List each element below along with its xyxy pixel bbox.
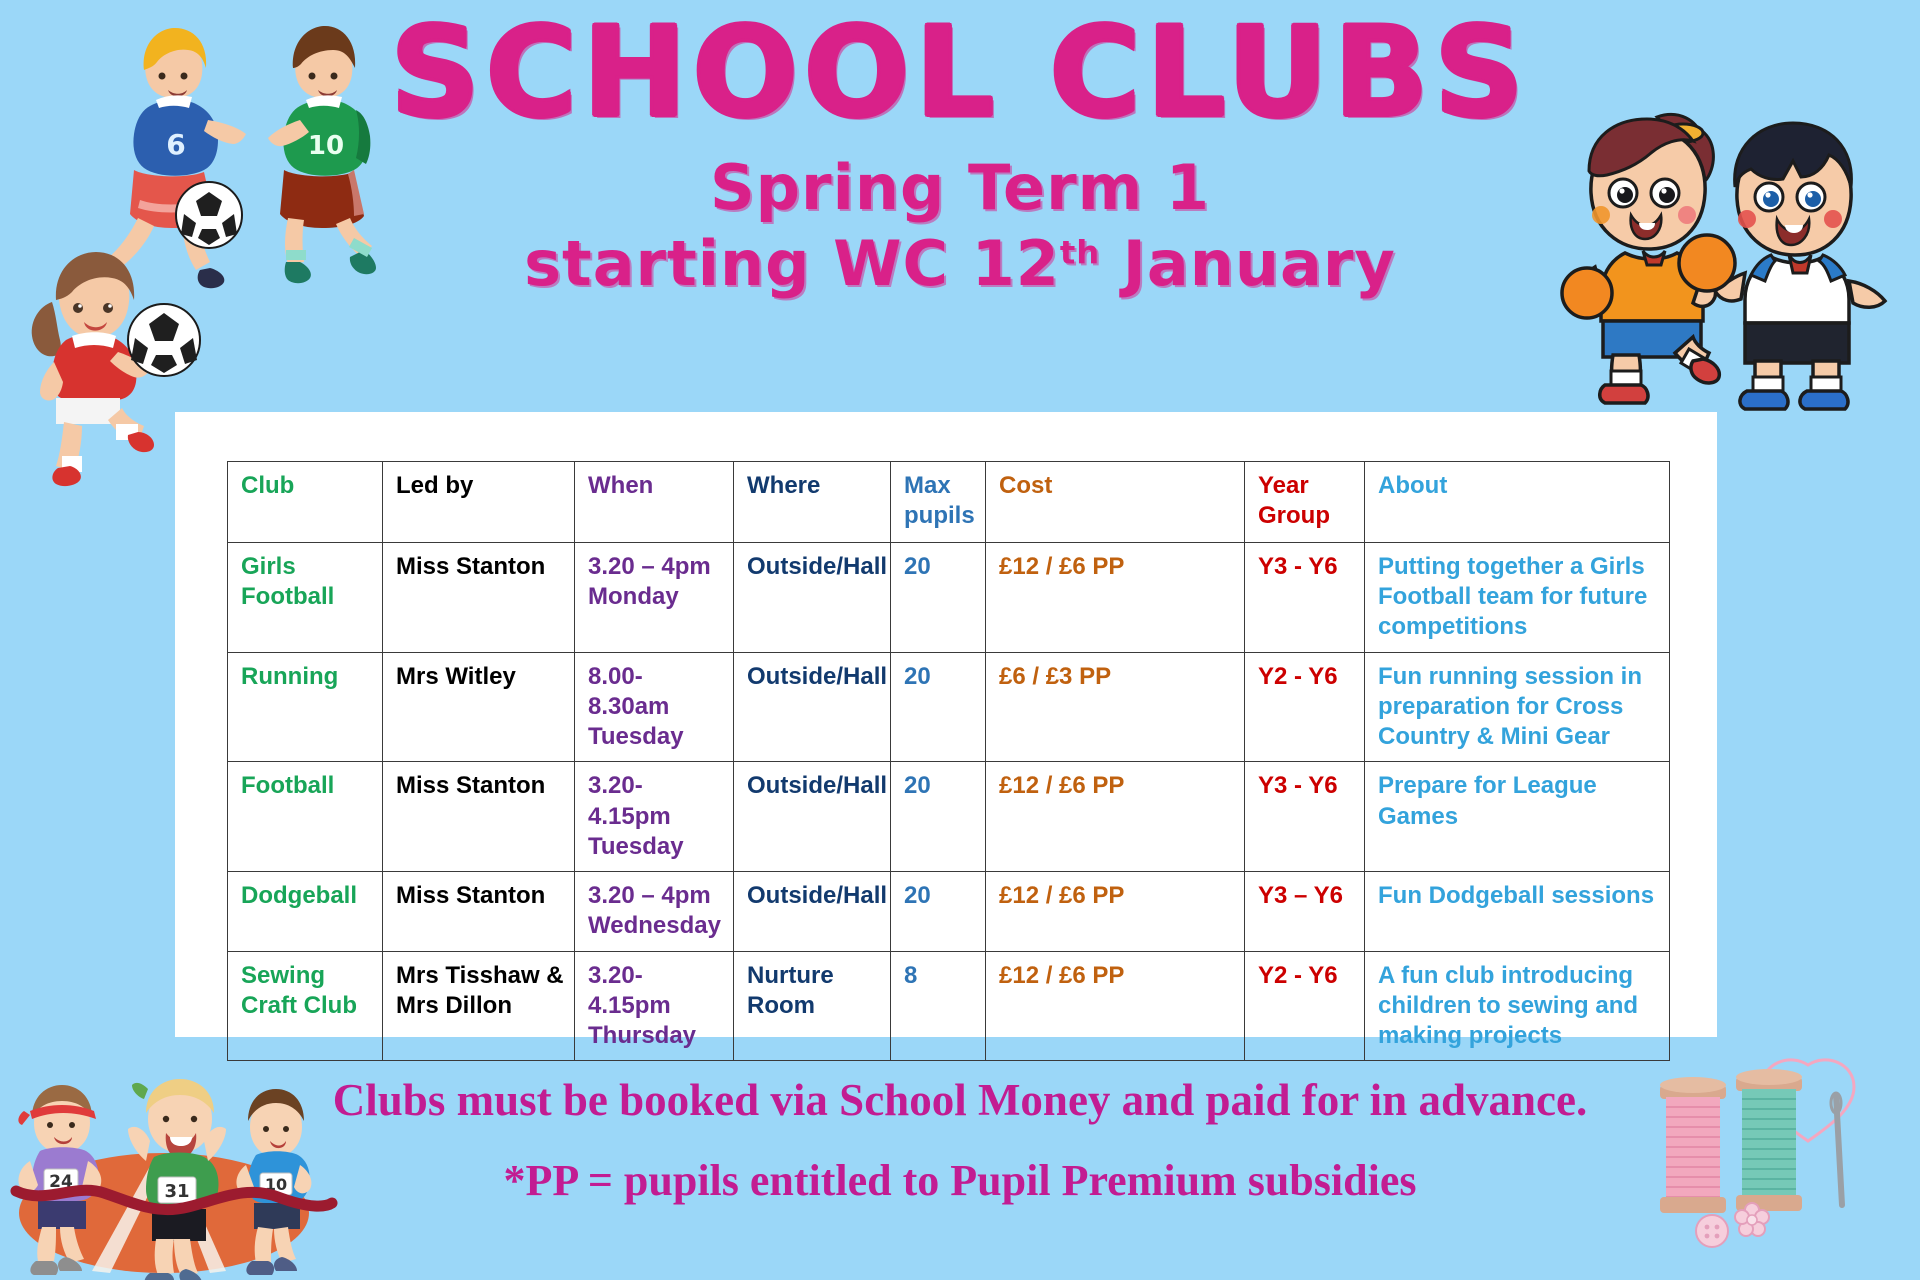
cell-year-group: Y3 – Y6 [1245, 872, 1365, 951]
cell-club: Football [228, 762, 383, 872]
dodgeball-orange-right [1679, 235, 1735, 291]
cell-when: 3.20-4.15pm Tuesday [575, 762, 734, 872]
cell-about: A fun club introducing children to sewin… [1365, 951, 1670, 1061]
column-header-max-pupils: Max pupils [891, 462, 986, 543]
cell-cost: £6 / £3 PP [986, 652, 1245, 762]
cell-where: Outside/Hall [734, 652, 891, 762]
dodgeball-orange-left [1562, 268, 1612, 318]
cell-club: Dodgeball [228, 872, 383, 951]
cell-cost: £12 / £6 PP [986, 543, 1245, 653]
column-header-led-by: Led by [383, 462, 575, 543]
cell-where: Outside/Hall [734, 872, 891, 951]
cell-when: 3.20 – 4pm Monday [575, 543, 734, 653]
cell-max-pupils: 20 [891, 762, 986, 872]
cell-year-group: Y3 - Y6 [1245, 543, 1365, 653]
table-row: Football Miss Stanton 3.20-4.15pm Tuesda… [228, 762, 1670, 872]
cell-max-pupils: 20 [891, 543, 986, 653]
cell-led-by: Mrs Tisshaw & Mrs Dillon [383, 951, 575, 1061]
cell-led-by: Mrs Witley [383, 652, 575, 762]
two-dodgeball-kids-clipart [1565, 105, 1895, 385]
cell-max-pupils: 8 [891, 951, 986, 1061]
subtitle-term: Spring Term 1 [710, 151, 1210, 224]
subtitle-ordinal-suffix: th [1060, 233, 1100, 271]
cell-led-by: Miss Stanton [383, 762, 575, 872]
jersey-number-6: 6 [166, 128, 185, 161]
cell-year-group: Y2 - Y6 [1245, 951, 1365, 1061]
cell-about: Fun Dodgeball sessions [1365, 872, 1670, 951]
cell-cost: £12 / £6 PP [986, 872, 1245, 951]
table-row: Dodgeball Miss Stanton 3.20 – 4pm Wednes… [228, 872, 1670, 951]
clubs-table: Club Led by When Where Max pupils Cost Y… [227, 461, 1670, 1061]
cell-led-by: Miss Stanton [383, 543, 575, 653]
cell-led-by: Miss Stanton [383, 872, 575, 951]
subtitle-start-post: January [1100, 227, 1396, 300]
cell-club: Running [228, 652, 383, 762]
column-header-about: About [1365, 462, 1670, 543]
cell-year-group: Y3 - Y6 [1245, 762, 1365, 872]
cell-about: Putting together a Girls Football team f… [1365, 543, 1670, 653]
cell-cost: £12 / £6 PP [986, 762, 1245, 872]
cell-where: Nurture Room [734, 951, 891, 1061]
cell-when: 3.20 – 4pm Wednesday [575, 872, 734, 951]
poster-footer: Clubs must be booked via School Money an… [0, 1070, 1920, 1210]
cell-max-pupils: 20 [891, 872, 986, 951]
cell-where: Outside/Hall [734, 543, 891, 653]
table-row: Girls Football Miss Stanton 3.20 – 4pm M… [228, 543, 1670, 653]
table-header-row: Club Led by When Where Max pupils Cost Y… [228, 462, 1670, 543]
cell-club: Sewing Craft Club [228, 951, 383, 1061]
cell-about: Prepare for League Games [1365, 762, 1670, 872]
cell-when: 8.00-8.30am Tuesday [575, 652, 734, 762]
column-header-cost: Cost [986, 462, 1245, 543]
cell-cost: £12 / £6 PP [986, 951, 1245, 1061]
footer-pp-note: *PP = pupils entitled to Pupil Premium s… [0, 1151, 1920, 1210]
table-row: Sewing Craft Club Mrs Tisshaw & Mrs Dill… [228, 951, 1670, 1061]
column-header-where: Where [734, 462, 891, 543]
cell-club: Girls Football [228, 543, 383, 653]
jersey-number-10: 10 [308, 131, 344, 161]
cell-max-pupils: 20 [891, 652, 986, 762]
column-header-when: When [575, 462, 734, 543]
column-header-club: Club [228, 462, 383, 543]
cell-year-group: Y2 - Y6 [1245, 652, 1365, 762]
cell-where: Outside/Hall [734, 762, 891, 872]
subtitle-start-pre: starting WC 12 [524, 227, 1060, 300]
column-header-year-group: Year Group [1245, 462, 1365, 543]
cell-when: 3.20-4.15pm Thursday [575, 951, 734, 1061]
schedule-panel: Club Led by When Where Max pupils Cost Y… [175, 412, 1717, 1037]
table-row: Running Mrs Witley 8.00-8.30am Tuesday O… [228, 652, 1670, 762]
cell-about: Fun running session in preparation for C… [1365, 652, 1670, 762]
footer-booking-note: Clubs must be booked via School Money an… [0, 1070, 1920, 1131]
